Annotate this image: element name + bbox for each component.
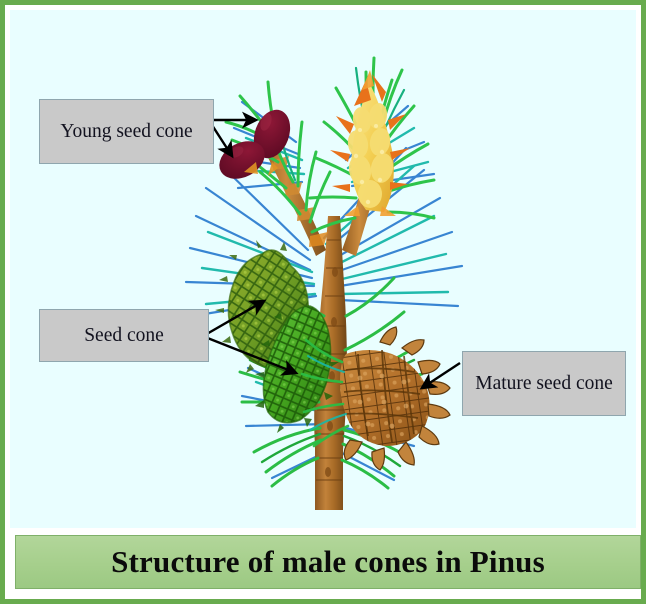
illustration-canvas: Young seed cone Seed cone Mature seed co… [10, 10, 636, 528]
label-young-seed-cone: Young seed cone [39, 99, 214, 164]
figure-frame: Young seed cone Seed cone Mature seed co… [0, 0, 646, 604]
figure-caption-text: Structure of male cones in Pinus [111, 544, 545, 580]
arrow-seed-1 [205, 301, 264, 335]
label-mature-seed-cone-text: Mature seed cone [475, 371, 613, 396]
label-seed-cone-text: Seed cone [84, 323, 164, 348]
label-arrows [10, 10, 636, 528]
figure-caption: Structure of male cones in Pinus [15, 535, 641, 589]
arrow-seed-2 [205, 337, 296, 373]
label-mature-seed-cone: Mature seed cone [462, 351, 626, 416]
label-young-seed-cone-text: Young seed cone [60, 119, 192, 144]
arrow-mature-1 [422, 363, 460, 388]
label-seed-cone: Seed cone [39, 309, 209, 362]
